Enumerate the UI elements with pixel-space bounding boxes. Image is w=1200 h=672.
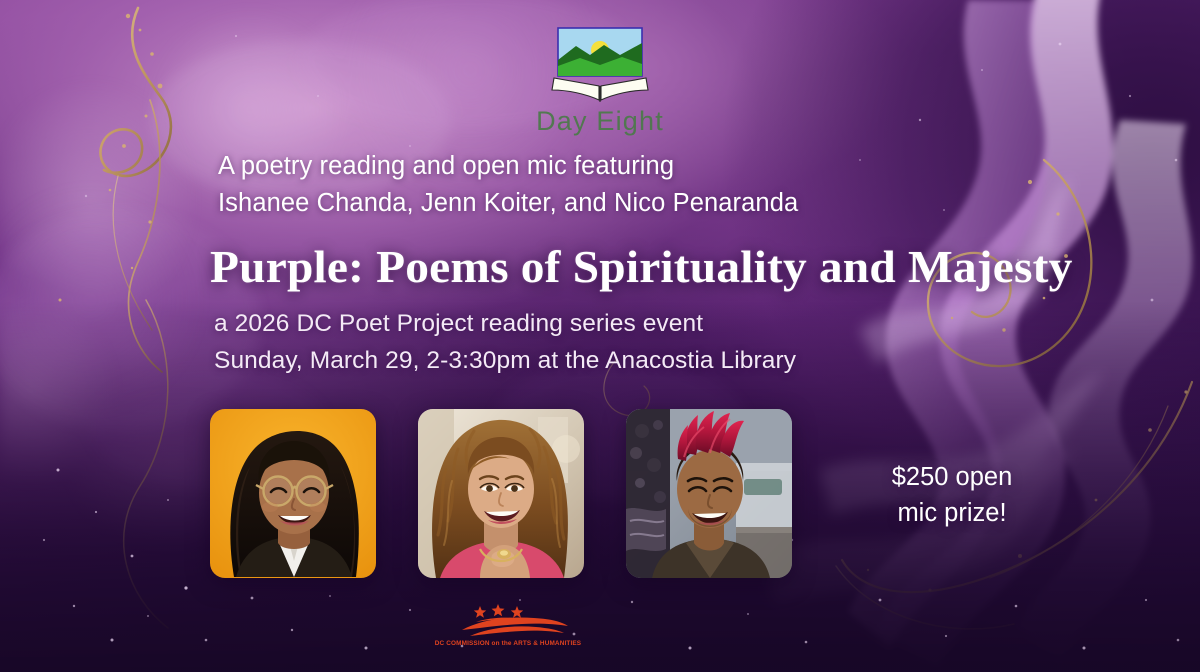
featured-poets-photos xyxy=(210,409,792,578)
open-mic-prize-callout: $250 open mic prize! xyxy=(872,459,1032,531)
intro-line-1: A poetry reading and open mic featuring xyxy=(218,148,798,185)
poet-photo-jenn-koiter xyxy=(418,409,584,578)
event-flyer: Day Eight A poetry reading and open mic … xyxy=(0,0,1200,672)
event-title: Purple: Poems of Spirituality and Majest… xyxy=(210,240,1073,293)
open-book-landscape-icon xyxy=(546,24,654,104)
poet-photo-ishanee-chanda xyxy=(210,409,376,578)
prize-line-1: $250 open xyxy=(872,459,1032,495)
datetime-line: Sunday, March 29, 2-3:30pm at the Anacos… xyxy=(214,342,796,379)
event-details: a 2026 DC Poet Project reading series ev… xyxy=(214,305,796,379)
prize-line-2: mic prize! xyxy=(872,495,1032,531)
portrait-nico-penaranda xyxy=(626,409,792,578)
portrait-jenn-koiter xyxy=(418,409,584,578)
day-eight-logo: Day Eight xyxy=(0,24,1200,137)
dc-commission-logo: DC COMMISSION on the ARTS & HUMANITIES xyxy=(418,600,598,648)
day-eight-wordmark: Day Eight xyxy=(536,106,664,137)
series-line: a 2026 DC Poet Project reading series ev… xyxy=(214,305,796,342)
commission-wordmark: DC COMMISSION on the ARTS & HUMANITIES xyxy=(435,640,582,647)
portrait-ishanee-chanda xyxy=(210,409,376,578)
intro-text: A poetry reading and open mic featuring … xyxy=(218,148,798,222)
dc-commission-arts-humanities-icon: DC COMMISSION on the ARTS & HUMANITIES xyxy=(418,600,598,648)
intro-line-2: Ishanee Chanda, Jenn Koiter, and Nico Pe… xyxy=(218,185,798,222)
poet-photo-nico-penaranda xyxy=(626,409,792,578)
